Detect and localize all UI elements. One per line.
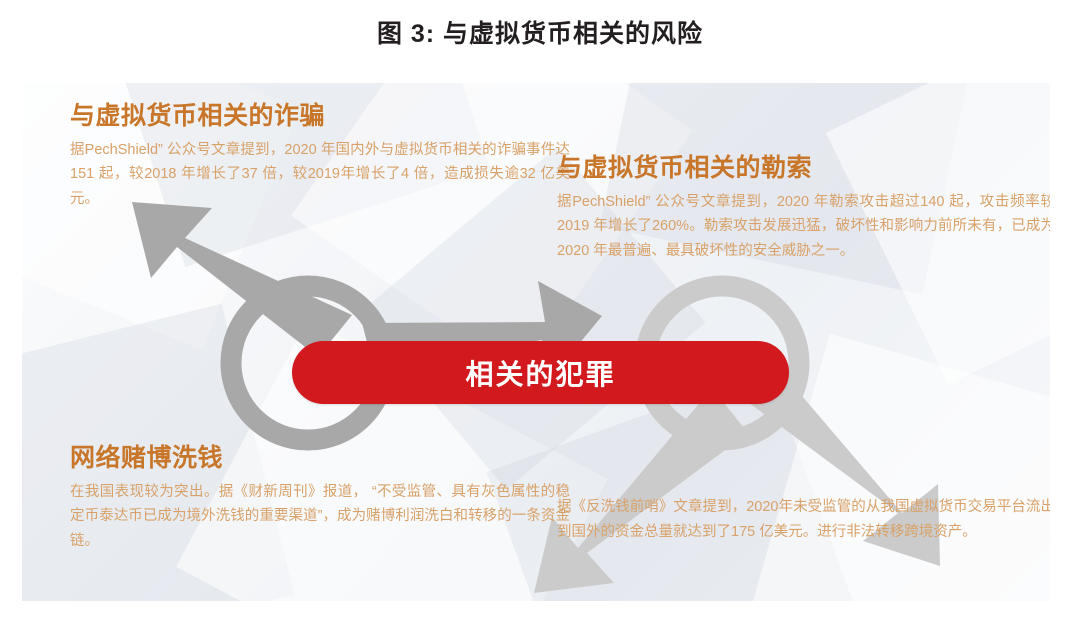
center-pill-label: 相关的犯罪 <box>465 353 615 393</box>
block-ransom-body: 据PechShield” 公众号文章提到，2020 年勒索攻击超过140 起，攻… <box>557 190 1050 265</box>
block-transfer-body: 据《反洗钱前哨》文章提到，2020年未受监管的从我国虚拟货币交易平台流出到国外的… <box>557 495 1050 545</box>
right-ring-group <box>534 286 940 593</box>
block-ransom: 与虚拟货币相关的勒索 据PechShield” 公众号文章提到，2020 年勒索… <box>557 155 1050 264</box>
block-gambling-body: 在我国表现较为突出。据《财新周刊》报道， “不受监管、具有灰色属性的稳定币泰达币… <box>70 480 570 555</box>
center-pill[interactable]: 相关的犯罪 <box>292 341 789 404</box>
block-fraud-heading: 与虚拟货币相关的诈骗 <box>70 103 570 131</box>
block-transfer: 据《反洗钱前哨》文章提到，2020年未受监管的从我国虚拟货币交易平台流出到国外的… <box>557 495 1050 545</box>
block-fraud-body: 据PechShield” 公众号文章提到，2020 年国内外与虚拟货币相关的诈骗… <box>70 138 570 213</box>
left-ring-group <box>132 202 602 440</box>
page-title: 图 3: 与虚拟货币相关的风险 <box>0 14 1080 50</box>
block-gambling-heading: 网络赌博洗钱 <box>70 445 570 473</box>
block-fraud: 与虚拟货币相关的诈骗 据PechShield” 公众号文章提到，2020 年国内… <box>70 103 570 212</box>
block-ransom-heading: 与虚拟货币相关的勒索 <box>557 155 1050 183</box>
block-gambling: 网络赌博洗钱 在我国表现较为突出。据《财新周刊》报道， “不受监管、具有灰色属性… <box>70 445 570 554</box>
diagram-panel: 相关的犯罪 与虚拟货币相关的诈骗 据PechShield” 公众号文章提到，20… <box>22 83 1050 601</box>
